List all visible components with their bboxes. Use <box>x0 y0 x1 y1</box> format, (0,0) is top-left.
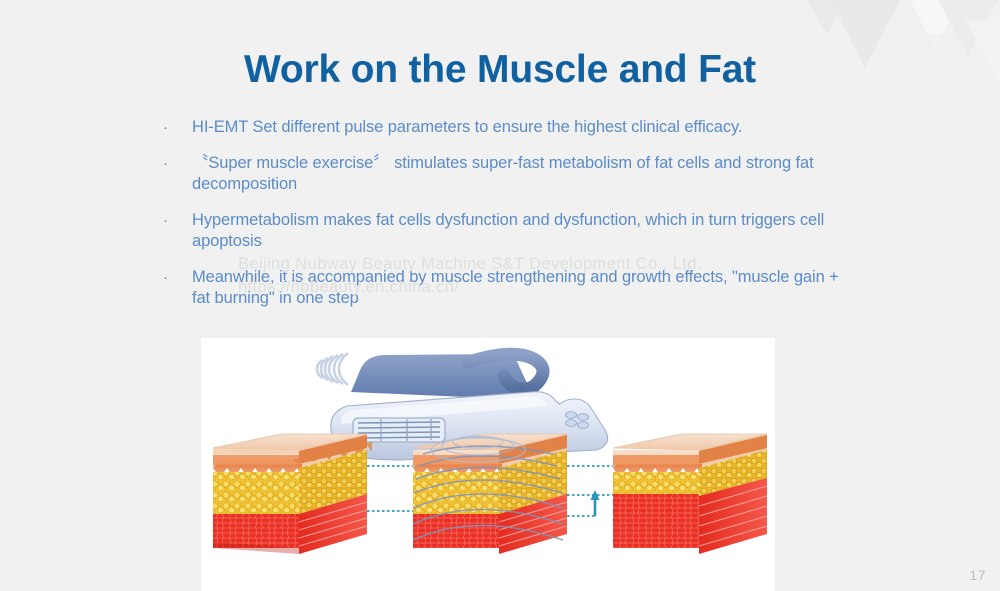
skin-block-during <box>413 434 567 554</box>
skin-block-before <box>213 434 372 554</box>
page-number: 17 <box>969 567 986 583</box>
bullet-list: · HI-EMT Set different pulse parameters … <box>160 117 860 309</box>
illustration-panel <box>201 338 775 591</box>
bullet-item-2: · 〝Super muscle exercise〞 stimulates sup… <box>160 153 860 195</box>
bullet-marker-icon: · <box>160 153 192 174</box>
muscle-layer-increased <box>613 494 699 548</box>
bullet-item-1: · HI-EMT Set different pulse parameters … <box>160 117 860 138</box>
bullet-marker-icon: · <box>160 267 192 288</box>
skin-layers-illustration <box>201 338 775 591</box>
skin-block-after <box>613 434 767 554</box>
bullet-text-2: 〝Super muscle exercise〞 stimulates super… <box>192 153 860 195</box>
bullet-item-4: · Meanwhile, it is accompanied by muscle… <box>160 267 860 309</box>
bullet-text-3: Hypermetabolism makes fat cells dysfunct… <box>192 210 860 252</box>
bullet-text-1: HI-EMT Set different pulse parameters to… <box>192 117 860 138</box>
bullet-marker-icon: · <box>160 117 192 138</box>
bullet-text-4: Meanwhile, it is accompanied by muscle s… <box>192 267 860 309</box>
fat-layer-reduced <box>613 472 699 494</box>
slide-canvas: Work on the Muscle and Fat · HI-EMT Set … <box>0 0 1000 591</box>
page-title: Work on the Muscle and Fat <box>0 50 1000 91</box>
fat-layer-front <box>213 472 299 514</box>
bullet-marker-icon: · <box>160 210 192 231</box>
bullet-item-3: · Hypermetabolism makes fat cells dysfun… <box>160 210 860 252</box>
